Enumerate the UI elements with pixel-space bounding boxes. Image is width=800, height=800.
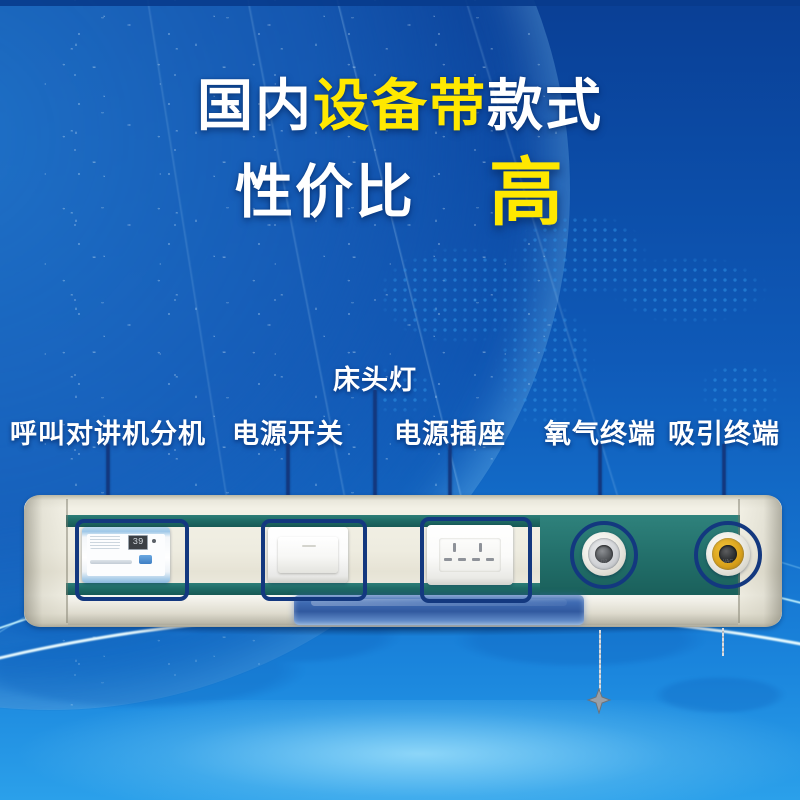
highlight-box-intercom: [75, 519, 189, 601]
pull-cord-weight-icon[interactable]: [586, 688, 612, 714]
highlight-box-power-socket: [420, 517, 532, 603]
promo-banner: 国内设备带款式 性价比高 呼叫对讲机分机 电源开关 床头灯 电源插座 氧气终端: [0, 0, 800, 800]
callout-labels-group: 呼叫对讲机分机 电源开关 床头灯 电源插座 氧气终端 吸引终端: [0, 0, 800, 800]
highlight-circle-oxygen: [570, 521, 638, 589]
panel-end-cap-left: [24, 495, 70, 627]
highlight-circle-suction: [694, 521, 762, 589]
pull-cord-line-2[interactable]: [722, 628, 724, 656]
pull-cord-line[interactable]: [599, 630, 601, 695]
highlight-box-power-switch: [261, 519, 367, 601]
panel-seam-left: [66, 499, 68, 623]
